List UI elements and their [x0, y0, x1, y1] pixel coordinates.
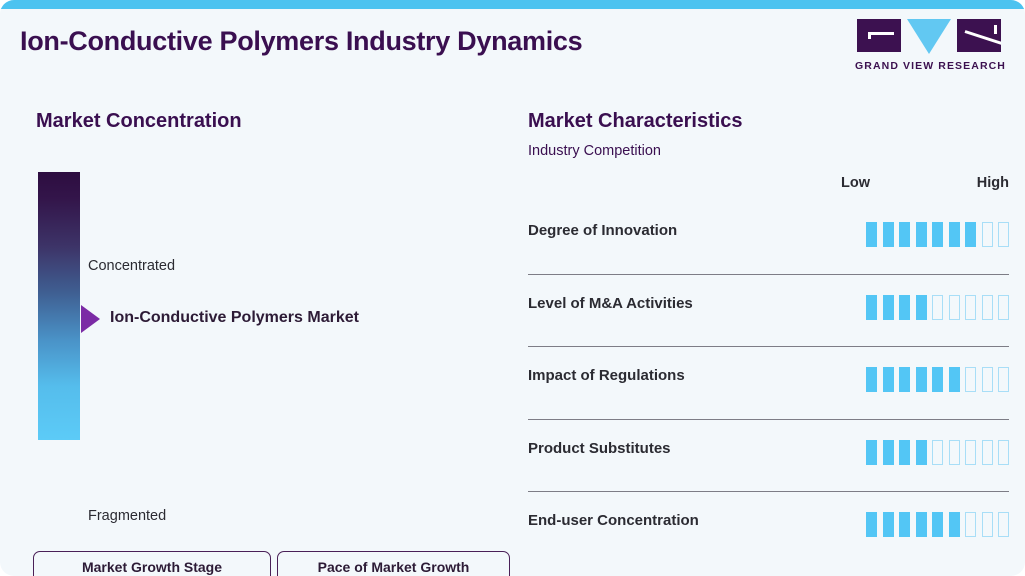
- characteristic-label: End-user Concentration: [528, 512, 699, 529]
- meter-segment-empty: [932, 440, 943, 465]
- pace-of-market-growth-card: Pace of Market Growth Accelerating Accel…: [277, 551, 510, 576]
- top-accent-bar: [0, 0, 1025, 9]
- meter-segment-filled: [883, 222, 894, 247]
- meter-segment-filled: [916, 295, 927, 320]
- characteristic-label: Degree of Innovation: [528, 222, 677, 239]
- page-title: Ion-Conductive Polymers Industry Dynamic…: [20, 26, 582, 57]
- meter-segment-filled: [883, 367, 894, 392]
- characteristic-row: Degree of Innovation: [528, 202, 1009, 275]
- meter-segment-filled: [949, 222, 960, 247]
- meter-segment-filled: [965, 222, 976, 247]
- market-position-arrow-icon: [81, 305, 100, 333]
- meter-segment-empty: [998, 295, 1009, 320]
- header: Ion-Conductive Polymers Industry Dynamic…: [0, 9, 1025, 85]
- meter-segment-empty: [982, 295, 993, 320]
- characteristic-meter: [866, 512, 1009, 537]
- meter-segment-empty: [982, 512, 993, 537]
- market-characteristics-subtitle: Industry Competition: [528, 143, 661, 159]
- characteristic-meter: [866, 367, 1009, 392]
- characteristic-label: Level of M&A Activities: [528, 295, 693, 312]
- meter-segment-filled: [916, 222, 927, 247]
- meter-segment-filled: [899, 367, 910, 392]
- meter-segment-empty: [982, 222, 993, 247]
- logo-g-glyph-icon: [857, 19, 901, 52]
- scale-label-concentrated: Concentrated: [88, 258, 175, 274]
- meter-segment-filled: [866, 512, 877, 537]
- meter-segment-empty: [982, 367, 993, 392]
- meter-segment-filled: [883, 512, 894, 537]
- meter-segment-filled: [916, 512, 927, 537]
- pace-of-market-growth-title: Pace of Market Growth: [278, 559, 509, 575]
- characteristic-row: Level of M&A Activities: [528, 275, 1009, 348]
- meter-segment-filled: [916, 367, 927, 392]
- characteristic-row: Product Substitutes: [528, 420, 1009, 493]
- meter-segment-filled: [899, 512, 910, 537]
- market-growth-stage-card: Market Growth Stage Medium Low | Medium …: [33, 551, 271, 576]
- meter-segment-empty: [998, 222, 1009, 247]
- logo-r-glyph-icon: [957, 19, 1001, 52]
- meter-scale-low-label: Low: [841, 175, 870, 191]
- meter-segment-filled: [883, 295, 894, 320]
- meter-segment-filled: [866, 222, 877, 247]
- meter-segment-empty: [998, 512, 1009, 537]
- meter-segment-filled: [932, 512, 943, 537]
- meter-segment-filled: [866, 440, 877, 465]
- market-concentration-title: Market Concentration: [36, 110, 242, 133]
- meter-segment-filled: [899, 295, 910, 320]
- meter-segment-empty: [949, 440, 960, 465]
- market-growth-stage-title: Market Growth Stage: [34, 559, 270, 575]
- meter-scale-high-label: High: [977, 175, 1009, 191]
- scale-label-fragmented: Fragmented: [88, 508, 166, 524]
- logo-wordmark: GRAND VIEW RESEARCH: [855, 60, 1003, 72]
- meter-segment-empty: [965, 440, 976, 465]
- market-position-label: Ion-Conductive Polymers Market: [110, 309, 359, 327]
- characteristic-meter: [866, 295, 1009, 320]
- meter-segment-empty: [965, 295, 976, 320]
- characteristic-label: Impact of Regulations: [528, 367, 685, 384]
- meter-segment-filled: [899, 222, 910, 247]
- infographic-canvas: Ion-Conductive Polymers Industry Dynamic…: [0, 0, 1025, 576]
- logo-marks: [855, 19, 1003, 55]
- characteristics-rows: Degree of InnovationLevel of M&A Activit…: [528, 202, 1009, 565]
- meter-segment-empty: [949, 295, 960, 320]
- concentration-gradient-scale: [38, 172, 80, 440]
- meter-segment-empty: [998, 440, 1009, 465]
- meter-segment-empty: [998, 367, 1009, 392]
- meter-segment-filled: [883, 440, 894, 465]
- meter-segment-empty: [965, 367, 976, 392]
- meter-segment-filled: [866, 295, 877, 320]
- meter-segment-filled: [949, 512, 960, 537]
- meter-segment-filled: [866, 367, 877, 392]
- characteristic-label: Product Substitutes: [528, 440, 671, 457]
- meter-segment-filled: [916, 440, 927, 465]
- meter-segment-filled: [932, 222, 943, 247]
- meter-segment-filled: [932, 367, 943, 392]
- logo-v-glyph-icon: [907, 19, 951, 54]
- market-concentration-panel: Market Concentration Concentrated Fragme…: [0, 85, 512, 576]
- market-characteristics-title: Market Characteristics: [528, 110, 743, 133]
- meter-segment-filled: [949, 367, 960, 392]
- characteristic-meter: [866, 222, 1009, 247]
- meter-segment-empty: [982, 440, 993, 465]
- characteristic-row: End-user Concentration: [528, 492, 1009, 565]
- meter-segment-empty: [965, 512, 976, 537]
- meter-segment-empty: [932, 295, 943, 320]
- market-characteristics-panel: Market Characteristics Industry Competit…: [512, 85, 1025, 576]
- brand-logo: GRAND VIEW RESEARCH: [855, 19, 1003, 72]
- meter-segment-filled: [899, 440, 910, 465]
- characteristic-row: Impact of Regulations: [528, 347, 1009, 420]
- characteristic-meter: [866, 440, 1009, 465]
